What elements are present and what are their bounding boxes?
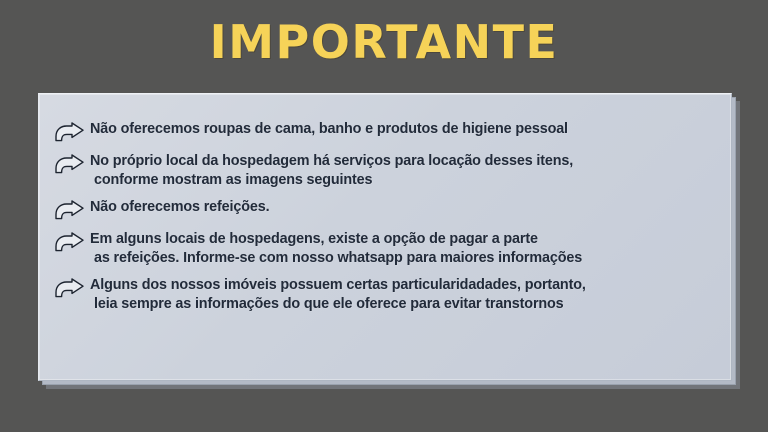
list-item-line: leia sempre as informações do que ele of… [90,295,717,314]
content-panel: Não oferecemos roupas de cama, banho e p… [38,93,732,381]
curved-block-arrow-right-icon [53,122,85,144]
list-item-text: Alguns dos nossos imóveis possuem certas… [90,276,717,314]
list-item-line: Não oferecemos refeições. [90,198,717,217]
curved-block-arrow-right-icon [53,154,85,176]
slide-canvas: IMPORTANTE Não oferecemos roupas de cama… [0,0,768,432]
list-item-line: Não oferecemos roupas de cama, banho e p… [90,120,717,139]
list-item: Alguns dos nossos imóveis possuem certas… [53,276,717,314]
curved-block-arrow-right-icon [53,278,85,300]
list-item-text: No próprio local da hospedagem há serviç… [90,152,717,190]
curved-block-arrow-right-icon [53,200,85,222]
bullet-list: Não oferecemos roupas de cama, banho e p… [53,120,717,314]
list-item-line: conforme mostram as imagens seguintes [90,171,717,190]
list-item-text: Não oferecemos roupas de cama, banho e p… [90,120,717,139]
page-title: IMPORTANTE [0,17,768,67]
curved-block-arrow-right-icon [53,232,85,254]
list-item: Não oferecemos refeições. [53,198,717,222]
list-item: Não oferecemos roupas de cama, banho e p… [53,120,717,144]
list-item-text: Em alguns locais de hospedagens, existe … [90,230,717,268]
list-item-line: as refeições. Informe-se com nosso whats… [90,249,717,268]
list-item-text: Não oferecemos refeições. [90,198,717,217]
list-item: Em alguns locais de hospedagens, existe … [53,230,717,268]
list-item-line: No próprio local da hospedagem há serviç… [90,152,717,171]
list-item-line: Alguns dos nossos imóveis possuem certas… [90,276,717,295]
list-item-line: Em alguns locais de hospedagens, existe … [90,230,717,249]
list-item: No próprio local da hospedagem há serviç… [53,152,717,190]
